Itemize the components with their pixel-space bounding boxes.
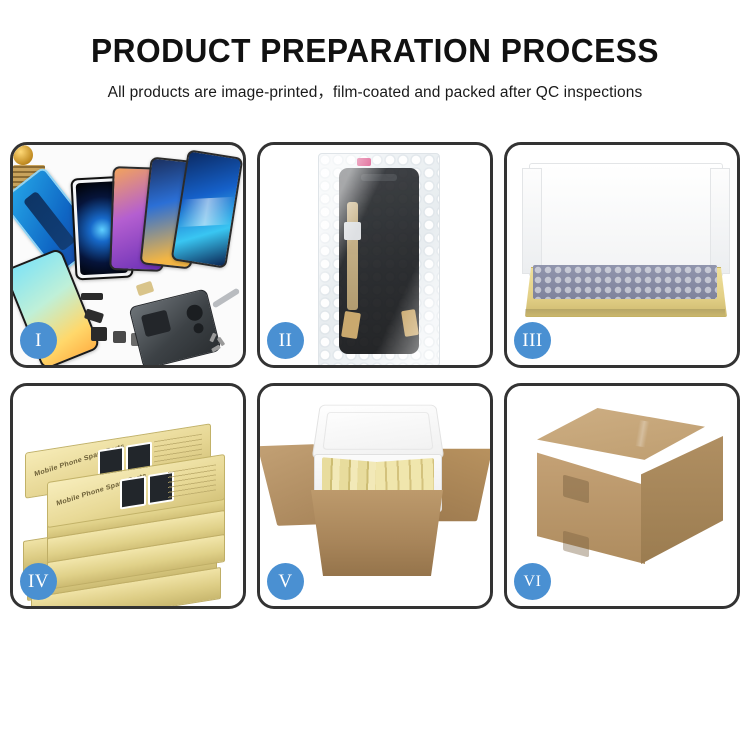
step-panel-1: I <box>10 142 246 368</box>
foam-box-lid-icon <box>312 405 445 459</box>
screws-icon <box>211 333 231 353</box>
phone-back-housing-icon <box>128 288 221 365</box>
part-connector-icon <box>81 293 103 300</box>
step-badge-4: IV <box>20 563 57 600</box>
step-badge-3: III <box>514 322 551 359</box>
carton-body-icon <box>302 490 452 576</box>
product-preparation-process-page: PRODUCT PREPARATION PROCESS All products… <box>0 0 750 750</box>
tweezers-icon <box>212 288 241 309</box>
box-print-screen-icon <box>120 475 146 509</box>
step-panel-2: II <box>257 142 493 368</box>
page-title: PRODUCT PREPARATION PROCESS <box>15 34 735 69</box>
bubble-wrap-bag-icon <box>318 153 440 365</box>
carton-front-face <box>537 448 645 564</box>
carton-side-face <box>641 436 723 564</box>
step-panel-5: V <box>257 383 493 609</box>
step-panel-4: Mobile Phone Spare Parts Mobile Phone Sp… <box>10 383 246 609</box>
step-badge-5: V <box>267 563 304 600</box>
step-panel-6: VI <box>504 383 740 609</box>
box-print-textlines <box>168 464 216 498</box>
bag-sheen-overlay <box>319 154 439 365</box>
part-gold-coil-icon <box>13 145 33 165</box>
part-speaker-icon <box>113 331 126 343</box>
step-badge-2: II <box>267 322 304 359</box>
process-steps-grid: I II III <box>10 142 740 609</box>
part-camera-module-icon <box>91 327 107 341</box>
bubble-wrap-fill-icon <box>533 265 717 299</box>
tray-shadow <box>525 309 725 317</box>
page-subtitle: All products are image-printed，film-coat… <box>0 80 750 102</box>
page-header: PRODUCT PREPARATION PROCESS All products… <box>0 0 750 102</box>
step-badge-1: I <box>20 322 57 359</box>
step-badge-6: VI <box>514 563 551 600</box>
part-flex-strip-icon <box>136 281 155 296</box>
white-box-lid-icon <box>529 163 723 277</box>
step-panel-3: III <box>504 142 740 368</box>
